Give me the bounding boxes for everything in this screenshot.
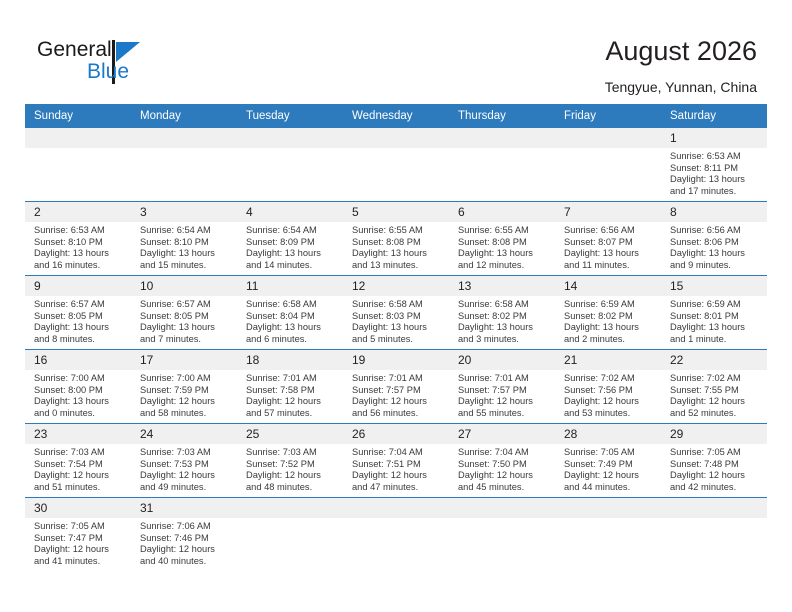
sun-info-line-sunrise: Sunrise: 7:02 AM xyxy=(564,373,655,385)
day-number: 18 xyxy=(237,350,343,370)
sun-info-line-daylight2: and 0 minutes. xyxy=(34,408,125,420)
day-number xyxy=(555,498,661,518)
day-number: 15 xyxy=(661,276,767,296)
day-sun-info: Sunrise: 6:55 AMSunset: 8:08 PMDaylight:… xyxy=(449,222,555,271)
sun-info-line-sunset: Sunset: 8:02 PM xyxy=(564,311,655,323)
day-number: 12 xyxy=(343,276,449,296)
sun-info-line-sunset: Sunset: 8:05 PM xyxy=(34,311,125,323)
calendar-day-cell[interactable]: 14Sunrise: 6:59 AMSunset: 8:02 PMDayligh… xyxy=(555,276,661,350)
day-sun-info: Sunrise: 7:03 AMSunset: 7:52 PMDaylight:… xyxy=(237,444,343,493)
sun-info-line-sunset: Sunset: 8:09 PM xyxy=(246,237,337,249)
sun-info-line-sunrise: Sunrise: 6:53 AM xyxy=(34,225,125,237)
calendar-day-cell-empty xyxy=(555,128,661,202)
sun-info-line-daylight1: Daylight: 12 hours xyxy=(564,470,655,482)
sun-info-line-daylight1: Daylight: 12 hours xyxy=(670,470,761,482)
day-number: 19 xyxy=(343,350,449,370)
sun-info-line-sunset: Sunset: 8:01 PM xyxy=(670,311,761,323)
sun-info-line-sunset: Sunset: 8:10 PM xyxy=(34,237,125,249)
calendar-day-cell[interactable]: 26Sunrise: 7:04 AMSunset: 7:51 PMDayligh… xyxy=(343,424,449,498)
calendar-day-cell-empty xyxy=(25,128,131,202)
day-sun-info: Sunrise: 7:01 AMSunset: 7:58 PMDaylight:… xyxy=(237,370,343,419)
sun-info-line-daylight1: Daylight: 13 hours xyxy=(564,322,655,334)
calendar-day-cell[interactable]: 7Sunrise: 6:56 AMSunset: 8:07 PMDaylight… xyxy=(555,202,661,276)
calendar-day-cell[interactable]: 31Sunrise: 7:06 AMSunset: 7:46 PMDayligh… xyxy=(131,498,237,572)
sun-info-line-sunrise: Sunrise: 7:01 AM xyxy=(458,373,549,385)
day-number: 3 xyxy=(131,202,237,222)
sun-info-line-sunset: Sunset: 8:04 PM xyxy=(246,311,337,323)
day-sun-info: Sunrise: 6:57 AMSunset: 8:05 PMDaylight:… xyxy=(25,296,131,345)
sun-info-line-sunset: Sunset: 7:48 PM xyxy=(670,459,761,471)
weekday-header-monday: Monday xyxy=(131,104,237,128)
day-number xyxy=(449,498,555,518)
sun-info-line-daylight1: Daylight: 12 hours xyxy=(34,470,125,482)
sun-info-line-daylight2: and 52 minutes. xyxy=(670,408,761,420)
sun-info-line-sunrise: Sunrise: 7:03 AM xyxy=(246,447,337,459)
calendar-body: 1Sunrise: 6:53 AMSunset: 8:11 PMDaylight… xyxy=(25,128,767,571)
sun-info-line-daylight2: and 56 minutes. xyxy=(352,408,443,420)
logo-triangle-icon xyxy=(116,42,140,62)
day-sun-info: Sunrise: 6:56 AMSunset: 8:06 PMDaylight:… xyxy=(661,222,767,271)
day-sun-info: Sunrise: 7:03 AMSunset: 7:53 PMDaylight:… xyxy=(131,444,237,493)
sun-info-line-daylight1: Daylight: 13 hours xyxy=(670,248,761,260)
sun-info-line-daylight2: and 53 minutes. xyxy=(564,408,655,420)
sun-info-line-sunset: Sunset: 7:57 PM xyxy=(458,385,549,397)
calendar-day-cell[interactable]: 8Sunrise: 6:56 AMSunset: 8:06 PMDaylight… xyxy=(661,202,767,276)
sun-info-line-sunset: Sunset: 7:50 PM xyxy=(458,459,549,471)
sun-info-line-daylight1: Daylight: 12 hours xyxy=(246,470,337,482)
calendar-week-row: 23Sunrise: 7:03 AMSunset: 7:54 PMDayligh… xyxy=(25,424,767,498)
sun-info-line-sunrise: Sunrise: 7:01 AM xyxy=(352,373,443,385)
day-sun-info: Sunrise: 6:57 AMSunset: 8:05 PMDaylight:… xyxy=(131,296,237,345)
day-sun-info: Sunrise: 7:03 AMSunset: 7:54 PMDaylight:… xyxy=(25,444,131,493)
sun-info-line-daylight1: Daylight: 12 hours xyxy=(34,544,125,556)
sun-info-line-sunset: Sunset: 7:58 PM xyxy=(246,385,337,397)
sun-info-line-daylight2: and 49 minutes. xyxy=(140,482,231,494)
sun-info-line-daylight1: Daylight: 12 hours xyxy=(140,470,231,482)
sun-info-line-sunrise: Sunrise: 6:58 AM xyxy=(458,299,549,311)
sun-info-line-sunset: Sunset: 7:47 PM xyxy=(34,533,125,545)
sun-info-line-daylight1: Daylight: 12 hours xyxy=(458,470,549,482)
sun-info-line-sunrise: Sunrise: 7:05 AM xyxy=(670,447,761,459)
sun-info-line-sunset: Sunset: 7:51 PM xyxy=(352,459,443,471)
day-sun-info: Sunrise: 6:59 AMSunset: 8:02 PMDaylight:… xyxy=(555,296,661,345)
sun-info-line-sunrise: Sunrise: 6:57 AM xyxy=(140,299,231,311)
sun-info-line-daylight2: and 5 minutes. xyxy=(352,334,443,346)
calendar-day-cell-empty xyxy=(343,128,449,202)
day-number xyxy=(343,498,449,518)
sun-info-line-sunrise: Sunrise: 6:59 AM xyxy=(564,299,655,311)
sun-info-line-daylight1: Daylight: 13 hours xyxy=(34,396,125,408)
sun-info-line-sunset: Sunset: 7:54 PM xyxy=(34,459,125,471)
sun-info-line-sunrise: Sunrise: 7:06 AM xyxy=(140,521,231,533)
day-sun-info: Sunrise: 6:58 AMSunset: 8:04 PMDaylight:… xyxy=(237,296,343,345)
calendar-week-row: 9Sunrise: 6:57 AMSunset: 8:05 PMDaylight… xyxy=(25,276,767,350)
calendar-day-cell[interactable]: 20Sunrise: 7:01 AMSunset: 7:57 PMDayligh… xyxy=(449,350,555,424)
sun-info-line-daylight1: Daylight: 13 hours xyxy=(458,322,549,334)
day-sun-info: Sunrise: 6:54 AMSunset: 8:09 PMDaylight:… xyxy=(237,222,343,271)
sun-info-line-daylight2: and 8 minutes. xyxy=(34,334,125,346)
sun-info-line-sunrise: Sunrise: 7:01 AM xyxy=(246,373,337,385)
sun-info-line-sunset: Sunset: 7:53 PM xyxy=(140,459,231,471)
calendar-day-cell[interactable]: 12Sunrise: 6:58 AMSunset: 8:03 PMDayligh… xyxy=(343,276,449,350)
calendar-week-row: 16Sunrise: 7:00 AMSunset: 8:00 PMDayligh… xyxy=(25,350,767,424)
calendar-day-cell[interactable]: 24Sunrise: 7:03 AMSunset: 7:53 PMDayligh… xyxy=(131,424,237,498)
calendar-header-row: Sunday Monday Tuesday Wednesday Thursday… xyxy=(25,104,767,128)
sun-info-line-daylight1: Daylight: 12 hours xyxy=(458,396,549,408)
calendar-day-cell[interactable]: 23Sunrise: 7:03 AMSunset: 7:54 PMDayligh… xyxy=(25,424,131,498)
day-sun-info: Sunrise: 7:01 AMSunset: 7:57 PMDaylight:… xyxy=(449,370,555,419)
calendar-day-cell[interactable]: 28Sunrise: 7:05 AMSunset: 7:49 PMDayligh… xyxy=(555,424,661,498)
day-sun-info: Sunrise: 6:58 AMSunset: 8:03 PMDaylight:… xyxy=(343,296,449,345)
sun-info-line-daylight1: Daylight: 13 hours xyxy=(670,322,761,334)
calendar-day-cell[interactable]: 25Sunrise: 7:03 AMSunset: 7:52 PMDayligh… xyxy=(237,424,343,498)
sun-info-line-daylight1: Daylight: 13 hours xyxy=(140,248,231,260)
sun-info-line-sunrise: Sunrise: 6:56 AM xyxy=(670,225,761,237)
weekday-header-thursday: Thursday xyxy=(449,104,555,128)
weekday-header-sunday: Sunday xyxy=(25,104,131,128)
sun-info-line-daylight2: and 1 minute. xyxy=(670,334,761,346)
brand-logo[interactable]: General Blue xyxy=(37,38,167,90)
calendar-day-cell-empty xyxy=(237,498,343,572)
day-sun-info: Sunrise: 7:02 AMSunset: 7:55 PMDaylight:… xyxy=(661,370,767,419)
calendar-day-cell[interactable]: 21Sunrise: 7:02 AMSunset: 7:56 PMDayligh… xyxy=(555,350,661,424)
sun-info-line-daylight2: and 16 minutes. xyxy=(34,260,125,272)
sun-info-line-daylight2: and 55 minutes. xyxy=(458,408,549,420)
sun-info-line-sunrise: Sunrise: 7:04 AM xyxy=(352,447,443,459)
day-number: 17 xyxy=(131,350,237,370)
day-number: 25 xyxy=(237,424,343,444)
sun-info-line-daylight1: Daylight: 13 hours xyxy=(564,248,655,260)
calendar-week-row: 30Sunrise: 7:05 AMSunset: 7:47 PMDayligh… xyxy=(25,498,767,572)
page-subtitle: Tengyue, Yunnan, China xyxy=(605,79,757,95)
sun-info-line-sunset: Sunset: 8:08 PM xyxy=(352,237,443,249)
sun-info-line-sunset: Sunset: 7:46 PM xyxy=(140,533,231,545)
day-number xyxy=(237,498,343,518)
calendar-day-cell[interactable]: 2Sunrise: 6:53 AMSunset: 8:10 PMDaylight… xyxy=(25,202,131,276)
day-number xyxy=(25,128,131,148)
day-sun-info: Sunrise: 7:05 AMSunset: 7:47 PMDaylight:… xyxy=(25,518,131,567)
day-number: 14 xyxy=(555,276,661,296)
day-number xyxy=(449,128,555,148)
sun-info-line-daylight2: and 44 minutes. xyxy=(564,482,655,494)
calendar-day-cell-empty xyxy=(661,498,767,572)
calendar-page: General Blue August 2026 Tengyue, Yunnan… xyxy=(0,0,792,612)
sun-info-line-sunrise: Sunrise: 7:03 AM xyxy=(34,447,125,459)
day-number: 13 xyxy=(449,276,555,296)
day-number: 9 xyxy=(25,276,131,296)
day-number: 5 xyxy=(343,202,449,222)
sun-info-line-daylight2: and 15 minutes. xyxy=(140,260,231,272)
sun-info-line-daylight1: Daylight: 13 hours xyxy=(140,322,231,334)
sun-info-line-daylight1: Daylight: 13 hours xyxy=(352,322,443,334)
sun-info-line-sunset: Sunset: 8:03 PM xyxy=(352,311,443,323)
day-sun-info: Sunrise: 7:02 AMSunset: 7:56 PMDaylight:… xyxy=(555,370,661,419)
sun-info-line-sunset: Sunset: 7:49 PM xyxy=(564,459,655,471)
weekday-header-tuesday: Tuesday xyxy=(237,104,343,128)
day-number: 21 xyxy=(555,350,661,370)
sun-info-line-daylight2: and 2 minutes. xyxy=(564,334,655,346)
sun-info-line-daylight2: and 9 minutes. xyxy=(670,260,761,272)
day-number: 16 xyxy=(25,350,131,370)
sun-info-line-sunrise: Sunrise: 6:53 AM xyxy=(670,151,761,163)
sun-info-line-sunset: Sunset: 7:57 PM xyxy=(352,385,443,397)
calendar-day-cell-empty xyxy=(449,498,555,572)
day-sun-info: Sunrise: 6:56 AMSunset: 8:07 PMDaylight:… xyxy=(555,222,661,271)
sun-info-line-sunset: Sunset: 8:02 PM xyxy=(458,311,549,323)
day-sun-info: Sunrise: 6:58 AMSunset: 8:02 PMDaylight:… xyxy=(449,296,555,345)
sun-info-line-sunset: Sunset: 7:52 PM xyxy=(246,459,337,471)
sun-info-line-daylight1: Daylight: 12 hours xyxy=(564,396,655,408)
sun-info-line-daylight2: and 3 minutes. xyxy=(458,334,549,346)
calendar-day-cell[interactable]: 19Sunrise: 7:01 AMSunset: 7:57 PMDayligh… xyxy=(343,350,449,424)
sun-info-line-daylight2: and 42 minutes. xyxy=(670,482,761,494)
sun-info-line-daylight2: and 14 minutes. xyxy=(246,260,337,272)
weekday-header-saturday: Saturday xyxy=(661,104,767,128)
sun-info-line-daylight2: and 47 minutes. xyxy=(352,482,443,494)
calendar-table: Sunday Monday Tuesday Wednesday Thursday… xyxy=(25,104,767,571)
day-number: 26 xyxy=(343,424,449,444)
day-number xyxy=(661,498,767,518)
day-sun-info: Sunrise: 7:01 AMSunset: 7:57 PMDaylight:… xyxy=(343,370,449,419)
calendar-day-cell[interactable]: 15Sunrise: 6:59 AMSunset: 8:01 PMDayligh… xyxy=(661,276,767,350)
sun-info-line-daylight2: and 41 minutes. xyxy=(34,556,125,568)
sun-info-line-sunrise: Sunrise: 7:00 AM xyxy=(34,373,125,385)
sun-info-line-sunrise: Sunrise: 7:05 AM xyxy=(34,521,125,533)
sun-info-line-sunrise: Sunrise: 6:54 AM xyxy=(140,225,231,237)
day-number: 11 xyxy=(237,276,343,296)
sun-info-line-daylight1: Daylight: 12 hours xyxy=(246,396,337,408)
calendar-day-cell-empty xyxy=(131,128,237,202)
day-sun-info: Sunrise: 7:06 AMSunset: 7:46 PMDaylight:… xyxy=(131,518,237,567)
sun-info-line-daylight2: and 7 minutes. xyxy=(140,334,231,346)
calendar-day-cell[interactable]: 30Sunrise: 7:05 AMSunset: 7:47 PMDayligh… xyxy=(25,498,131,572)
day-sun-info: Sunrise: 7:04 AMSunset: 7:50 PMDaylight:… xyxy=(449,444,555,493)
day-number xyxy=(131,128,237,148)
day-number: 24 xyxy=(131,424,237,444)
sun-info-line-sunrise: Sunrise: 6:55 AM xyxy=(458,225,549,237)
day-sun-info: Sunrise: 7:04 AMSunset: 7:51 PMDaylight:… xyxy=(343,444,449,493)
calendar-day-cell[interactable]: 27Sunrise: 7:04 AMSunset: 7:50 PMDayligh… xyxy=(449,424,555,498)
day-number: 4 xyxy=(237,202,343,222)
calendar-week-row: 2Sunrise: 6:53 AMSunset: 8:10 PMDaylight… xyxy=(25,202,767,276)
calendar-day-cell-empty xyxy=(555,498,661,572)
sun-info-line-sunrise: Sunrise: 6:54 AM xyxy=(246,225,337,237)
sun-info-line-sunrise: Sunrise: 6:56 AM xyxy=(564,225,655,237)
sun-info-line-sunset: Sunset: 8:05 PM xyxy=(140,311,231,323)
day-number: 1 xyxy=(661,128,767,148)
calendar-day-cell[interactable]: 10Sunrise: 6:57 AMSunset: 8:05 PMDayligh… xyxy=(131,276,237,350)
page-header: General Blue August 2026 Tengyue, Yunnan… xyxy=(0,0,792,104)
sun-info-line-sunrise: Sunrise: 7:04 AM xyxy=(458,447,549,459)
sun-info-line-daylight1: Daylight: 13 hours xyxy=(246,322,337,334)
sun-info-line-daylight1: Daylight: 12 hours xyxy=(140,396,231,408)
sun-info-line-sunset: Sunset: 8:08 PM xyxy=(458,237,549,249)
day-number: 30 xyxy=(25,498,131,518)
day-number: 2 xyxy=(25,202,131,222)
day-number: 31 xyxy=(131,498,237,518)
sun-info-line-daylight1: Daylight: 13 hours xyxy=(458,248,549,260)
calendar-day-cell[interactable]: 18Sunrise: 7:01 AMSunset: 7:58 PMDayligh… xyxy=(237,350,343,424)
calendar-day-cell-empty xyxy=(343,498,449,572)
sun-info-line-daylight1: Daylight: 13 hours xyxy=(34,322,125,334)
day-sun-info: Sunrise: 6:53 AMSunset: 8:11 PMDaylight:… xyxy=(661,148,767,197)
sun-info-line-daylight1: Daylight: 12 hours xyxy=(352,470,443,482)
sun-info-line-daylight2: and 11 minutes. xyxy=(564,260,655,272)
day-sun-info: Sunrise: 6:59 AMSunset: 8:01 PMDaylight:… xyxy=(661,296,767,345)
sun-info-line-sunrise: Sunrise: 6:59 AM xyxy=(670,299,761,311)
sun-info-line-daylight2: and 40 minutes. xyxy=(140,556,231,568)
calendar-day-cell[interactable]: 29Sunrise: 7:05 AMSunset: 7:48 PMDayligh… xyxy=(661,424,767,498)
sun-info-line-sunset: Sunset: 7:59 PM xyxy=(140,385,231,397)
day-sun-info: Sunrise: 7:05 AMSunset: 7:49 PMDaylight:… xyxy=(555,444,661,493)
sun-info-line-daylight2: and 57 minutes. xyxy=(246,408,337,420)
day-sun-info: Sunrise: 6:55 AMSunset: 8:08 PMDaylight:… xyxy=(343,222,449,271)
calendar-week-row: 1Sunrise: 6:53 AMSunset: 8:11 PMDaylight… xyxy=(25,128,767,202)
day-sun-info: Sunrise: 6:54 AMSunset: 8:10 PMDaylight:… xyxy=(131,222,237,271)
sun-info-line-sunrise: Sunrise: 7:00 AM xyxy=(140,373,231,385)
sun-info-line-daylight1: Daylight: 12 hours xyxy=(670,396,761,408)
sun-info-line-sunset: Sunset: 8:10 PM xyxy=(140,237,231,249)
calendar-day-cell[interactable]: 13Sunrise: 6:58 AMSunset: 8:02 PMDayligh… xyxy=(449,276,555,350)
calendar-day-cell[interactable]: 6Sunrise: 6:55 AMSunset: 8:08 PMDaylight… xyxy=(449,202,555,276)
weekday-header-friday: Friday xyxy=(555,104,661,128)
sun-info-line-sunrise: Sunrise: 6:57 AM xyxy=(34,299,125,311)
day-number: 6 xyxy=(449,202,555,222)
sun-info-line-sunrise: Sunrise: 7:03 AM xyxy=(140,447,231,459)
sun-info-line-daylight2: and 6 minutes. xyxy=(246,334,337,346)
sun-info-line-sunset: Sunset: 8:00 PM xyxy=(34,385,125,397)
calendar-day-cell[interactable]: 1Sunrise: 6:53 AMSunset: 8:11 PMDaylight… xyxy=(661,128,767,202)
brand-name-general: General xyxy=(37,38,112,62)
sun-info-line-daylight2: and 45 minutes. xyxy=(458,482,549,494)
day-sun-info: Sunrise: 7:00 AMSunset: 8:00 PMDaylight:… xyxy=(25,370,131,419)
sun-info-line-daylight2: and 58 minutes. xyxy=(140,408,231,420)
calendar-day-cell[interactable]: 22Sunrise: 7:02 AMSunset: 7:55 PMDayligh… xyxy=(661,350,767,424)
calendar-day-cell[interactable]: 16Sunrise: 7:00 AMSunset: 8:00 PMDayligh… xyxy=(25,350,131,424)
day-sun-info: Sunrise: 6:53 AMSunset: 8:10 PMDaylight:… xyxy=(25,222,131,271)
weekday-header-wednesday: Wednesday xyxy=(343,104,449,128)
sun-info-line-daylight2: and 12 minutes. xyxy=(458,260,549,272)
sun-info-line-daylight1: Daylight: 12 hours xyxy=(352,396,443,408)
day-sun-info: Sunrise: 7:05 AMSunset: 7:48 PMDaylight:… xyxy=(661,444,767,493)
sun-info-line-sunset: Sunset: 8:07 PM xyxy=(564,237,655,249)
sun-info-line-daylight1: Daylight: 13 hours xyxy=(246,248,337,260)
calendar-day-cell-empty xyxy=(237,128,343,202)
sun-info-line-sunrise: Sunrise: 6:58 AM xyxy=(246,299,337,311)
calendar-day-cell-empty xyxy=(449,128,555,202)
day-number: 29 xyxy=(661,424,767,444)
day-number: 23 xyxy=(25,424,131,444)
calendar-day-cell[interactable]: 17Sunrise: 7:00 AMSunset: 7:59 PMDayligh… xyxy=(131,350,237,424)
day-number: 27 xyxy=(449,424,555,444)
sun-info-line-sunset: Sunset: 7:55 PM xyxy=(670,385,761,397)
day-sun-info: Sunrise: 7:00 AMSunset: 7:59 PMDaylight:… xyxy=(131,370,237,419)
sun-info-line-sunrise: Sunrise: 6:58 AM xyxy=(352,299,443,311)
day-number xyxy=(237,128,343,148)
sun-info-line-sunset: Sunset: 8:11 PM xyxy=(670,163,761,175)
day-number: 7 xyxy=(555,202,661,222)
sun-info-line-daylight2: and 48 minutes. xyxy=(246,482,337,494)
calendar-day-cell[interactable]: 5Sunrise: 6:55 AMSunset: 8:08 PMDaylight… xyxy=(343,202,449,276)
day-number: 28 xyxy=(555,424,661,444)
sun-info-line-sunset: Sunset: 8:06 PM xyxy=(670,237,761,249)
day-number xyxy=(343,128,449,148)
sun-info-line-daylight2: and 51 minutes. xyxy=(34,482,125,494)
sun-info-line-sunrise: Sunrise: 6:55 AM xyxy=(352,225,443,237)
day-number: 10 xyxy=(131,276,237,296)
sun-info-line-daylight1: Daylight: 13 hours xyxy=(670,174,761,186)
page-title: August 2026 xyxy=(605,36,757,67)
sun-info-line-daylight1: Daylight: 13 hours xyxy=(34,248,125,260)
sun-info-line-daylight1: Daylight: 13 hours xyxy=(352,248,443,260)
sun-info-line-sunrise: Sunrise: 7:05 AM xyxy=(564,447,655,459)
calendar-day-cell[interactable]: 4Sunrise: 6:54 AMSunset: 8:09 PMDaylight… xyxy=(237,202,343,276)
day-number: 22 xyxy=(661,350,767,370)
sun-info-line-sunset: Sunset: 7:56 PM xyxy=(564,385,655,397)
sun-info-line-daylight2: and 13 minutes. xyxy=(352,260,443,272)
calendar-day-cell[interactable]: 9Sunrise: 6:57 AMSunset: 8:05 PMDaylight… xyxy=(25,276,131,350)
day-number: 20 xyxy=(449,350,555,370)
calendar-day-cell[interactable]: 11Sunrise: 6:58 AMSunset: 8:04 PMDayligh… xyxy=(237,276,343,350)
brand-name-blue: Blue xyxy=(87,60,129,84)
sun-info-line-sunrise: Sunrise: 7:02 AM xyxy=(670,373,761,385)
day-number xyxy=(555,128,661,148)
sun-info-line-daylight1: Daylight: 12 hours xyxy=(140,544,231,556)
calendar-day-cell[interactable]: 3Sunrise: 6:54 AMSunset: 8:10 PMDaylight… xyxy=(131,202,237,276)
day-number: 8 xyxy=(661,202,767,222)
sun-info-line-daylight2: and 17 minutes. xyxy=(670,186,761,198)
